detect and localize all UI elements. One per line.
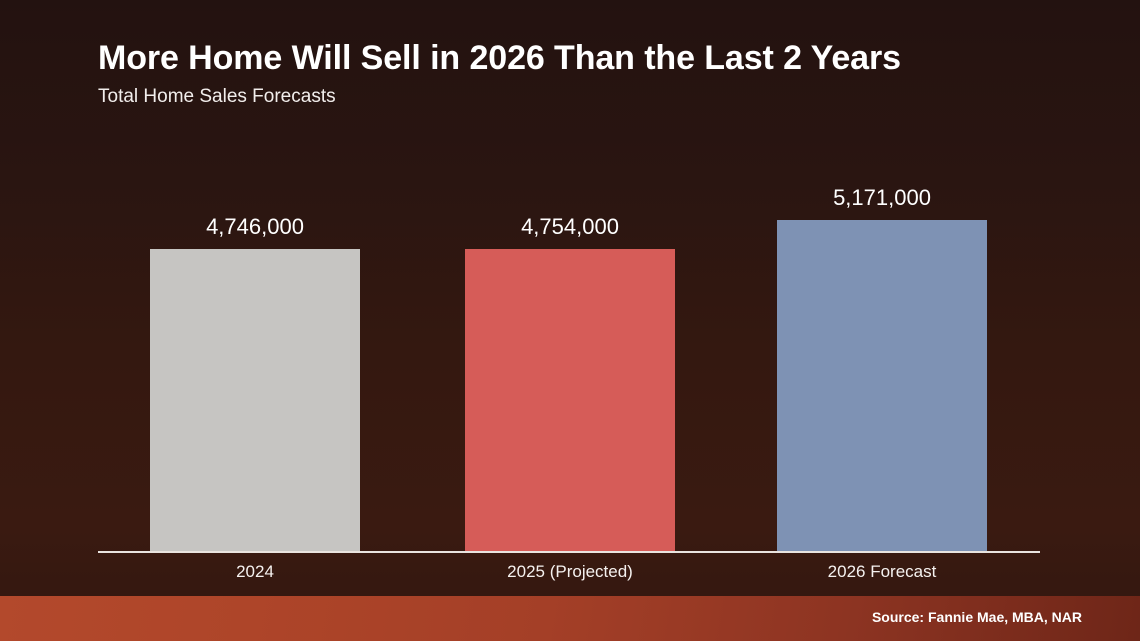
x-axis-line	[98, 551, 1040, 553]
bar-group-2024: 4,746,000	[150, 150, 360, 551]
bar-2025-projected[interactable]	[465, 249, 675, 551]
footer-bar: Source: Fannie Mae, MBA, NAR	[0, 596, 1140, 641]
x-axis-tick-labels: 2024 2025 (Projected) 2026 Forecast	[98, 562, 1040, 590]
x-axis-label-2024: 2024	[150, 562, 360, 582]
bar-2026-forecast[interactable]	[777, 220, 987, 551]
page-subtitle: Total Home Sales Forecasts	[98, 86, 1058, 109]
x-axis-label-2025-projected: 2025 (Projected)	[465, 562, 675, 582]
chart-header: More Home Will Sell in 2026 Than the Las…	[98, 38, 1058, 109]
source-attribution: Source: Fannie Mae, MBA, NAR	[872, 609, 1082, 625]
bar-value-label: 4,746,000	[150, 214, 360, 240]
bar-group-2025-projected: 4,754,000	[465, 150, 675, 551]
page-title: More Home Will Sell in 2026 Than the Las…	[98, 38, 1058, 78]
bar-series: 4,746,000 4,754,000 5,171,000	[98, 150, 1040, 551]
bar-value-label: 5,171,000	[777, 185, 987, 211]
slide-canvas: More Home Will Sell in 2026 Than the Las…	[0, 0, 1140, 641]
x-axis-label-2026-forecast: 2026 Forecast	[777, 562, 987, 582]
bar-2024[interactable]	[150, 249, 360, 551]
bar-value-label: 4,754,000	[465, 214, 675, 240]
bar-group-2026-forecast: 5,171,000	[777, 150, 987, 551]
bar-chart-plot-area: 4,746,000 4,754,000 5,171,000	[98, 150, 1040, 553]
